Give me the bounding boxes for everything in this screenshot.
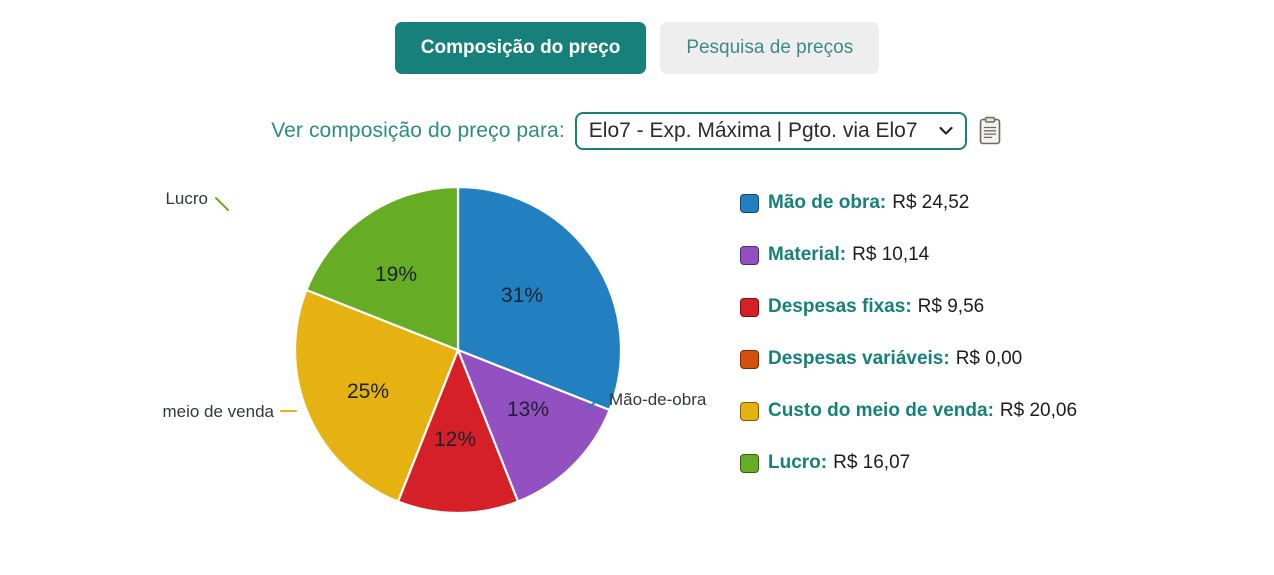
tab-pesquisa-de-precos[interactable]: Pesquisa de preços: [660, 22, 879, 74]
legend-label: Material:: [768, 244, 846, 266]
legend-value: R$ 24,52: [892, 192, 969, 214]
pie-chart: 31% 13% 12% 25% 19% Mão-de-obra Material…: [150, 170, 730, 530]
pie-label-mao-de-obra: Mão-de-obra: [609, 390, 707, 409]
legend-swatch-despesas-variaveis: [740, 350, 759, 369]
legend-value: R$ 16,07: [833, 452, 910, 474]
price-selector-row: Ver composição do preço para: Elo7 - Exp…: [0, 112, 1274, 150]
pie-label-lucro: Lucro: [165, 189, 208, 208]
price-composition-page: Composição do preço Pesquisa de preços V…: [0, 0, 1274, 575]
legend-value: R$ 10,14: [852, 244, 929, 266]
legend-label: Mão de obra:: [768, 192, 886, 214]
tab-bar: Composição do preço Pesquisa de preços: [0, 22, 1274, 74]
legend-item: Material: R$ 10,14: [740, 244, 1260, 266]
pie-label-custo-meio-venda: meio de venda: [162, 402, 274, 421]
legend-value: R$ 0,00: [956, 348, 1023, 370]
clipboard-icon[interactable]: [977, 116, 1003, 146]
legend-label: Despesas fixas:: [768, 296, 912, 318]
pie-percent-lucro: 19%: [375, 263, 417, 286]
pie-slices: [295, 187, 621, 513]
pie-percent-mao-de-obra: 31%: [501, 284, 543, 307]
legend-item: Despesas variáveis: R$ 0,00: [740, 348, 1260, 370]
legend-swatch-custo-meio-venda: [740, 402, 759, 421]
legend-label: Custo do meio de venda:: [768, 400, 994, 422]
legend-swatch-despesas-fixas: [740, 298, 759, 317]
legend-value: R$ 9,56: [918, 296, 985, 318]
pie-percent-custo-meio-venda: 25%: [347, 380, 389, 403]
pie-percent-desp-fixas: 12%: [434, 428, 476, 451]
legend-item: Custo do meio de venda: R$ 20,06: [740, 400, 1260, 422]
price-selector-dropdown[interactable]: Elo7 - Exp. Máxima | Pgto. via Elo7: [575, 112, 967, 150]
legend-item: Despesas fixas: R$ 9,56: [740, 296, 1260, 318]
legend-swatch-mao-de-obra: [740, 194, 759, 213]
pie-percent-material: 13%: [507, 398, 549, 421]
legend-item: Lucro: R$ 16,07: [740, 452, 1260, 474]
tab-composicao-do-preco[interactable]: Composição do preço: [395, 22, 647, 74]
price-selector-value: Elo7 - Exp. Máxima | Pgto. via Elo7: [589, 119, 918, 143]
legend-label: Lucro:: [768, 452, 827, 474]
legend-label: Despesas variáveis:: [768, 348, 950, 370]
legend-item: Mão de obra: R$ 24,52: [740, 192, 1260, 214]
legend-swatch-lucro: [740, 454, 759, 473]
legend-value: R$ 20,06: [1000, 400, 1077, 422]
price-selector-label: Ver composição do preço para:: [271, 119, 565, 143]
legend-swatch-material: [740, 246, 759, 265]
chevron-down-icon: [938, 123, 952, 137]
chart-legend: Mão de obra: R$ 24,52 Material: R$ 10,14…: [740, 192, 1260, 504]
